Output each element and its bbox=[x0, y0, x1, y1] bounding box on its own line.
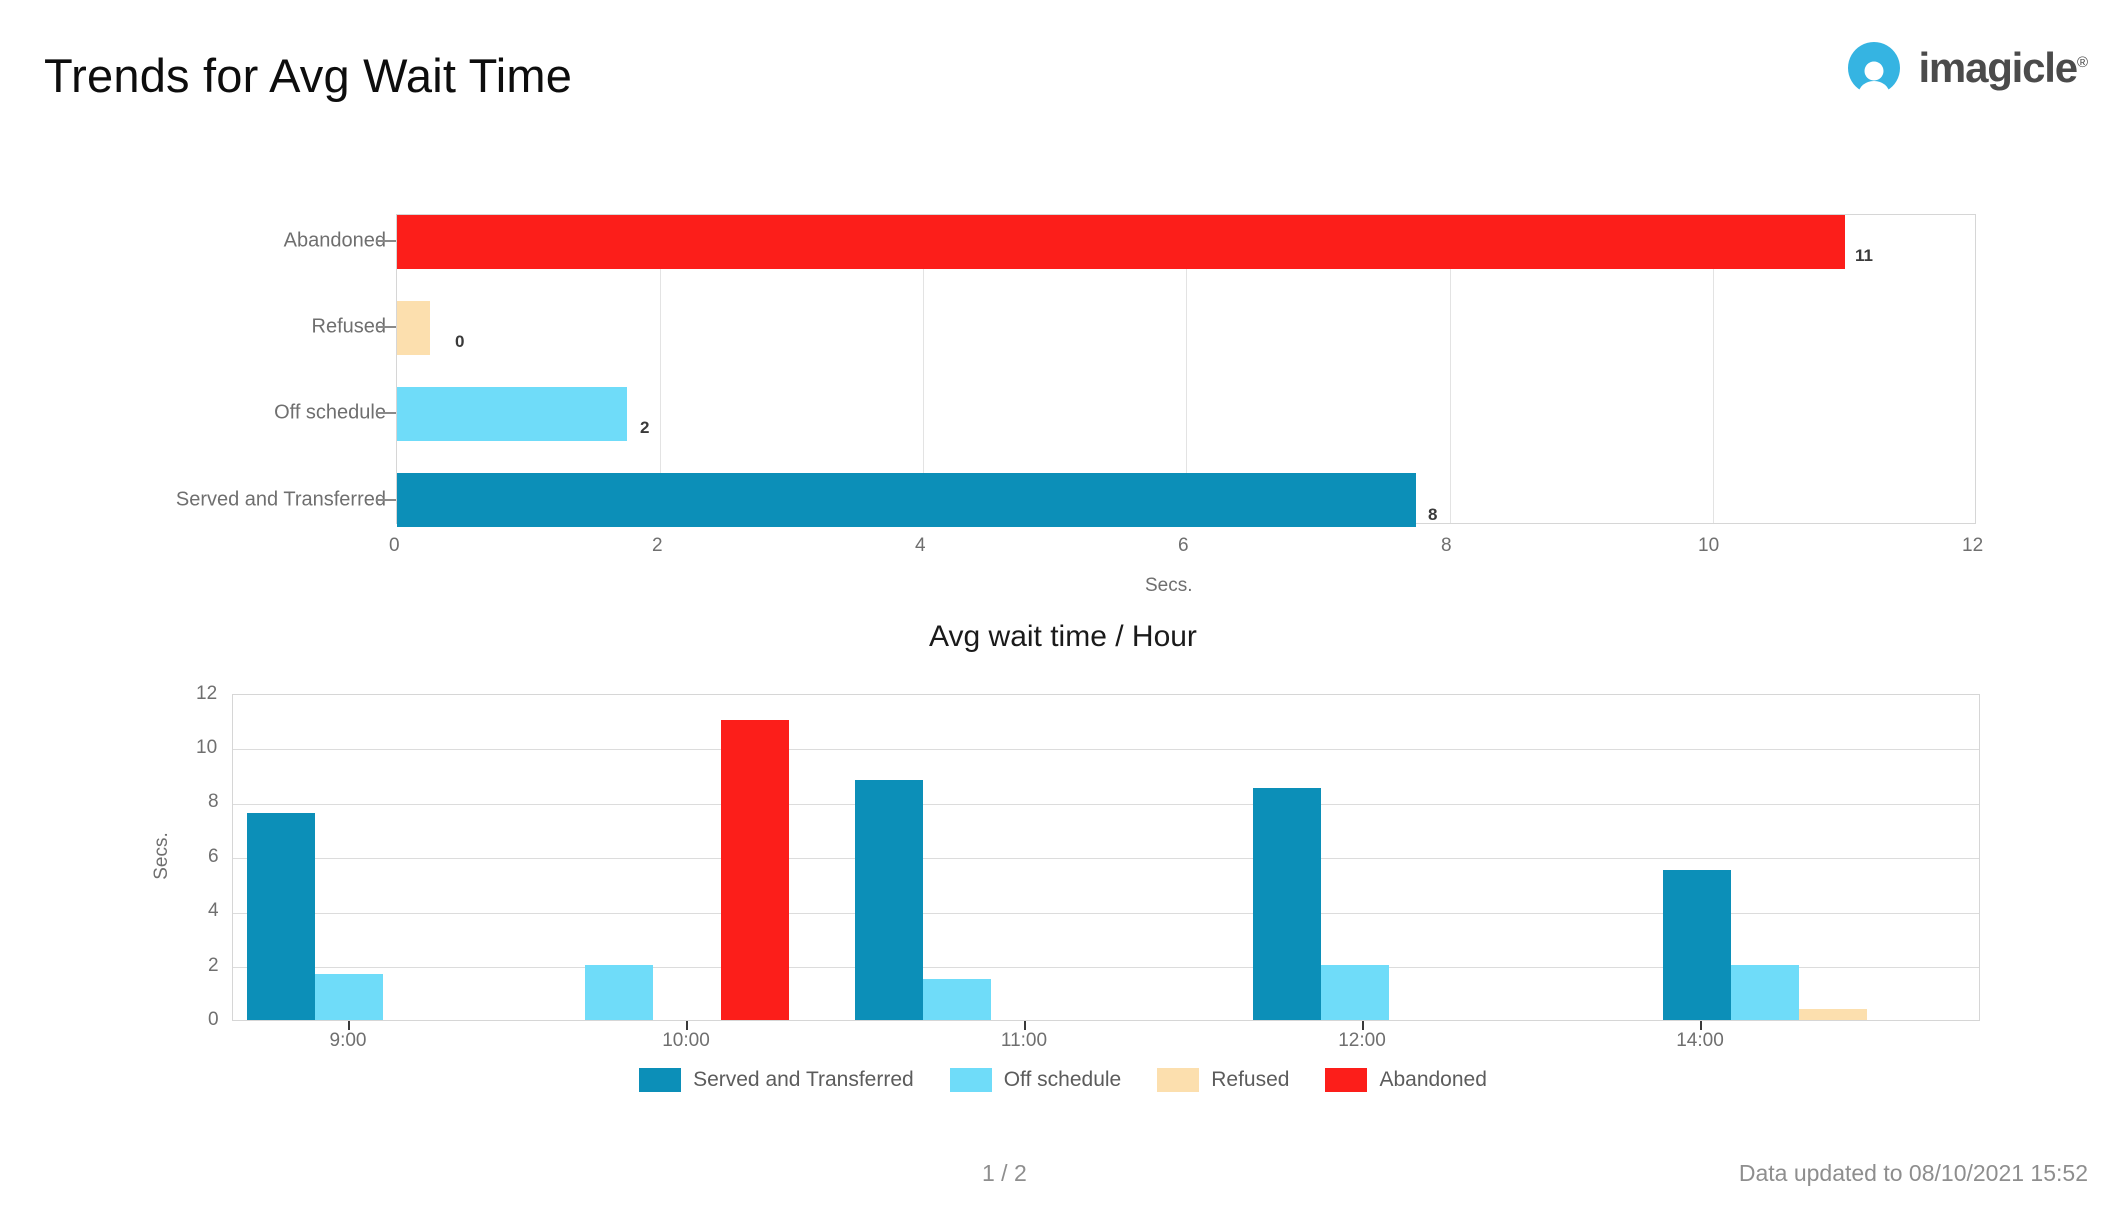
bottom-chart-y-axis-title: Secs. bbox=[151, 832, 173, 880]
legend-item-off-schedule[interactable]: Off schedule bbox=[950, 1068, 1122, 1092]
group-tick-10 bbox=[686, 1021, 688, 1030]
legend-label-refused: Refused bbox=[1211, 1068, 1289, 1092]
group-tick-11 bbox=[1024, 1021, 1026, 1030]
bar-12-off-schedule[interactable] bbox=[1321, 965, 1389, 1020]
legend-item-refused[interactable]: Refused bbox=[1157, 1068, 1289, 1092]
legend-item-abandoned[interactable]: Abandoned bbox=[1325, 1068, 1486, 1092]
xcat-14: 14:00 bbox=[1676, 1030, 1724, 1052]
bar-9-off-schedule[interactable] bbox=[315, 974, 383, 1020]
gridline-y-10 bbox=[233, 749, 1979, 750]
ytick-8: 8 bbox=[208, 791, 219, 813]
legend-item-served-and-transferred[interactable]: Served and Transferred bbox=[639, 1068, 914, 1092]
group-tick-12 bbox=[1362, 1021, 1364, 1030]
bar-14-refused[interactable] bbox=[1799, 1009, 1867, 1020]
bar-10-abandoned[interactable] bbox=[721, 720, 789, 1020]
bar-11-off-schedule[interactable] bbox=[923, 979, 991, 1020]
legend-swatch-off-schedule bbox=[950, 1068, 992, 1092]
ytick-6: 6 bbox=[208, 846, 219, 868]
ytick-4: 4 bbox=[208, 900, 219, 922]
bar-12-served-and-transferred[interactable] bbox=[1253, 788, 1321, 1020]
xcat-12: 12:00 bbox=[1338, 1030, 1386, 1052]
data-updated-timestamp: Data updated to 08/10/2021 15:52 bbox=[1739, 1160, 2088, 1187]
legend-label-served-and-transferred: Served and Transferred bbox=[693, 1068, 914, 1092]
legend-swatch-abandoned bbox=[1325, 1068, 1367, 1092]
ytick-12: 12 bbox=[196, 683, 217, 705]
legend-swatch-served-and-transferred bbox=[639, 1068, 681, 1092]
page-indicator: 1 / 2 bbox=[982, 1160, 1027, 1187]
xcat-9: 9:00 bbox=[330, 1030, 367, 1052]
bar-10-off-schedule[interactable] bbox=[585, 965, 653, 1020]
legend-swatch-refused bbox=[1157, 1068, 1199, 1092]
ytick-0: 0 bbox=[208, 1009, 219, 1031]
legend-label-abandoned: Abandoned bbox=[1379, 1068, 1486, 1092]
xcat-11: 11:00 bbox=[1001, 1030, 1047, 1052]
group-tick-9 bbox=[348, 1021, 350, 1030]
chart-avg-wait-time-per-hour: Secs. 12 10 8 6 4 2 0 9:00 10:00 11: bbox=[0, 0, 2126, 1232]
gridline-y-8 bbox=[233, 804, 1979, 805]
group-tick-14 bbox=[1700, 1021, 1702, 1030]
gridline-y-6 bbox=[233, 858, 1979, 859]
bar-9-served-and-transferred[interactable] bbox=[247, 813, 315, 1020]
bar-11-served-and-transferred[interactable] bbox=[855, 780, 923, 1020]
bar-14-off-schedule[interactable] bbox=[1731, 965, 1799, 1020]
bottom-chart-plot-area bbox=[232, 694, 1980, 1021]
legend-label-off-schedule: Off schedule bbox=[1004, 1068, 1122, 1092]
xcat-10: 10:00 bbox=[662, 1030, 710, 1052]
ytick-2: 2 bbox=[208, 955, 219, 977]
chart-legend: Served and Transferred Off schedule Refu… bbox=[0, 1068, 2126, 1092]
ytick-10: 10 bbox=[196, 737, 217, 759]
bar-14-served-and-transferred[interactable] bbox=[1663, 870, 1731, 1020]
